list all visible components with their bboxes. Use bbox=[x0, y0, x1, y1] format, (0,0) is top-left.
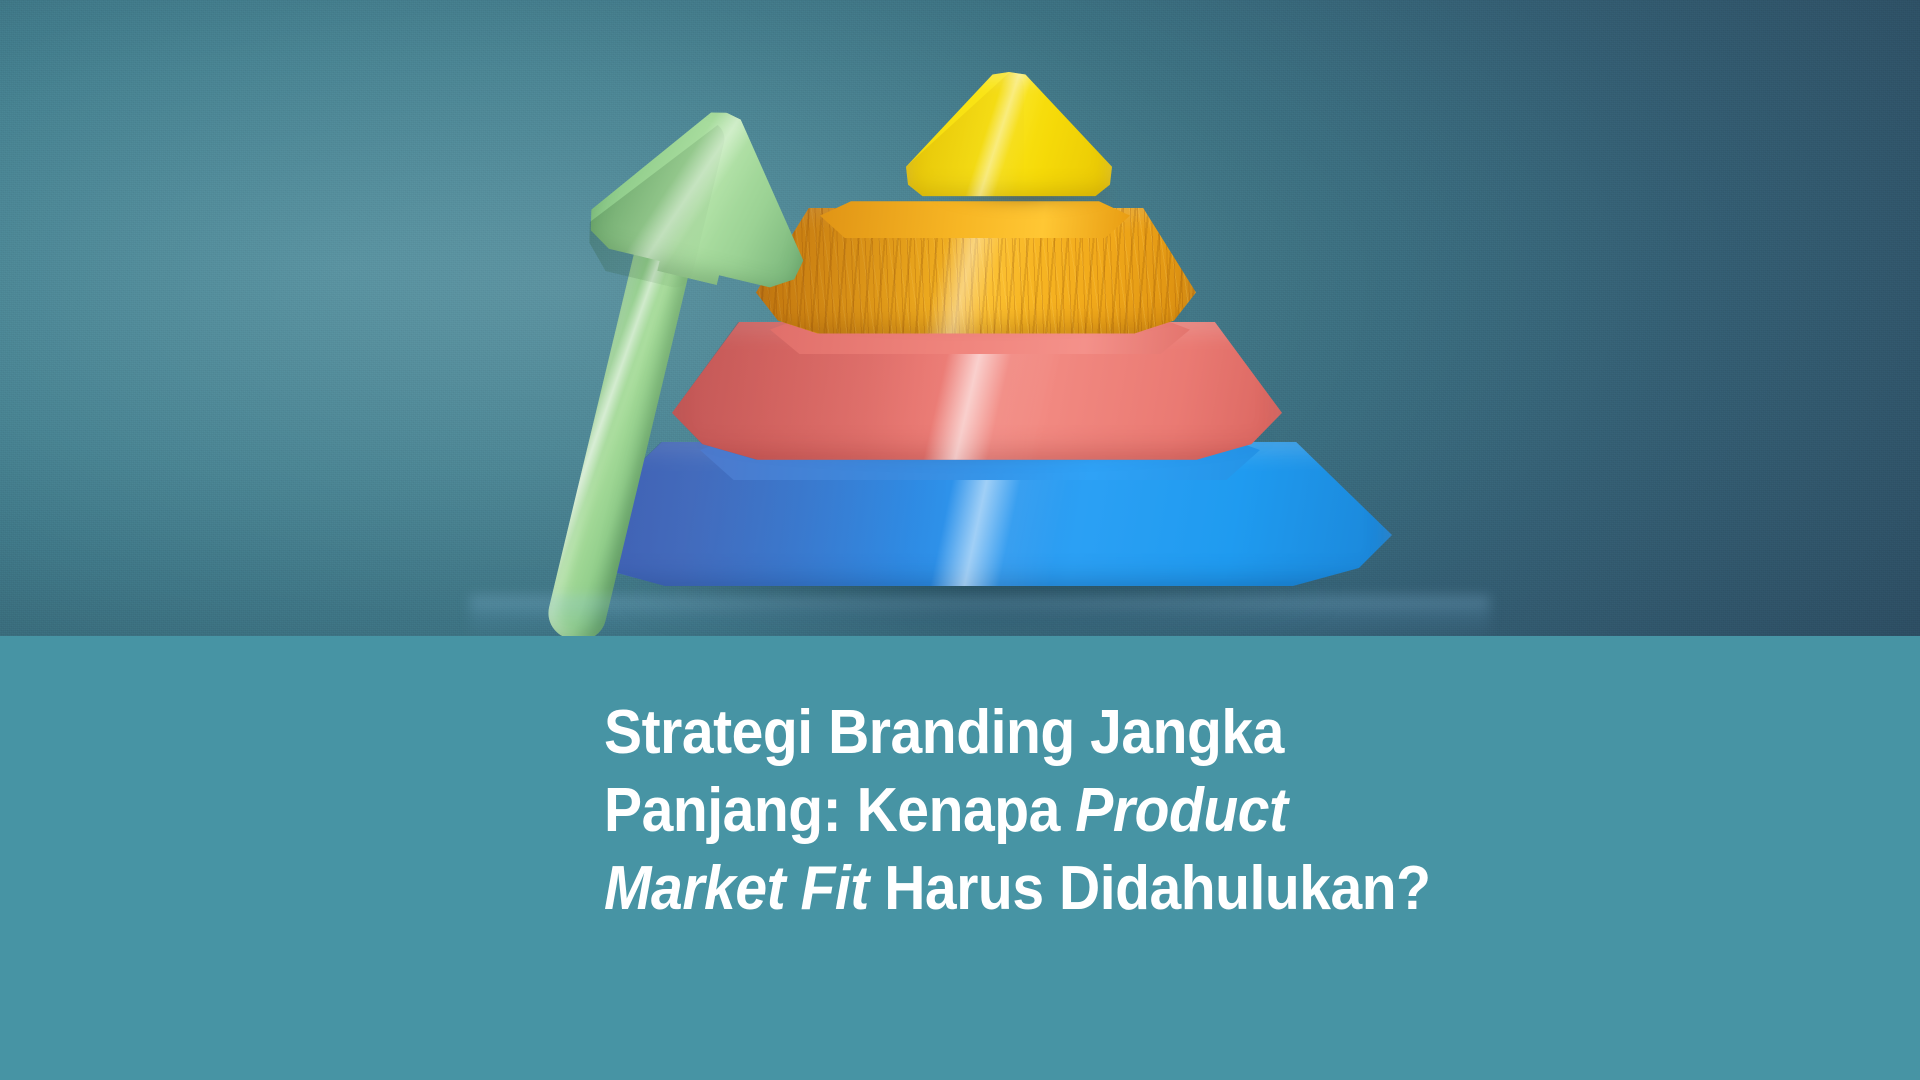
headline-line-3-italic: Market Fit bbox=[604, 854, 869, 923]
headline-line-1: Strategi Branding Jangka bbox=[604, 694, 1690, 772]
headline-line-3: Market Fit Harus Didahulukan? bbox=[604, 850, 1690, 928]
pyramid-illustration bbox=[0, 0, 1920, 636]
headline-line-2: Panjang: Kenapa Product bbox=[604, 772, 1690, 850]
headline-line-2-text: Panjang: Kenapa bbox=[604, 776, 1075, 845]
page-title: Strategi Branding Jangka Panjang: Kenapa… bbox=[604, 694, 1690, 928]
floor-reflection bbox=[470, 596, 1490, 636]
hero-card: Strategi Branding Jangka Panjang: Kenapa… bbox=[0, 0, 1920, 1080]
headline-line-3-text: Harus Didahulukan? bbox=[869, 854, 1431, 923]
growth-arrow-icon bbox=[560, 100, 880, 620]
pyramid-apex-highlight bbox=[906, 72, 1112, 200]
caption-band: Strategi Branding Jangka Panjang: Kenapa… bbox=[0, 636, 1920, 1080]
hero-image bbox=[0, 0, 1920, 636]
headline-line-2-italic: Product bbox=[1075, 776, 1287, 845]
headline-line-1-text: Strategi Branding Jangka bbox=[604, 698, 1284, 767]
